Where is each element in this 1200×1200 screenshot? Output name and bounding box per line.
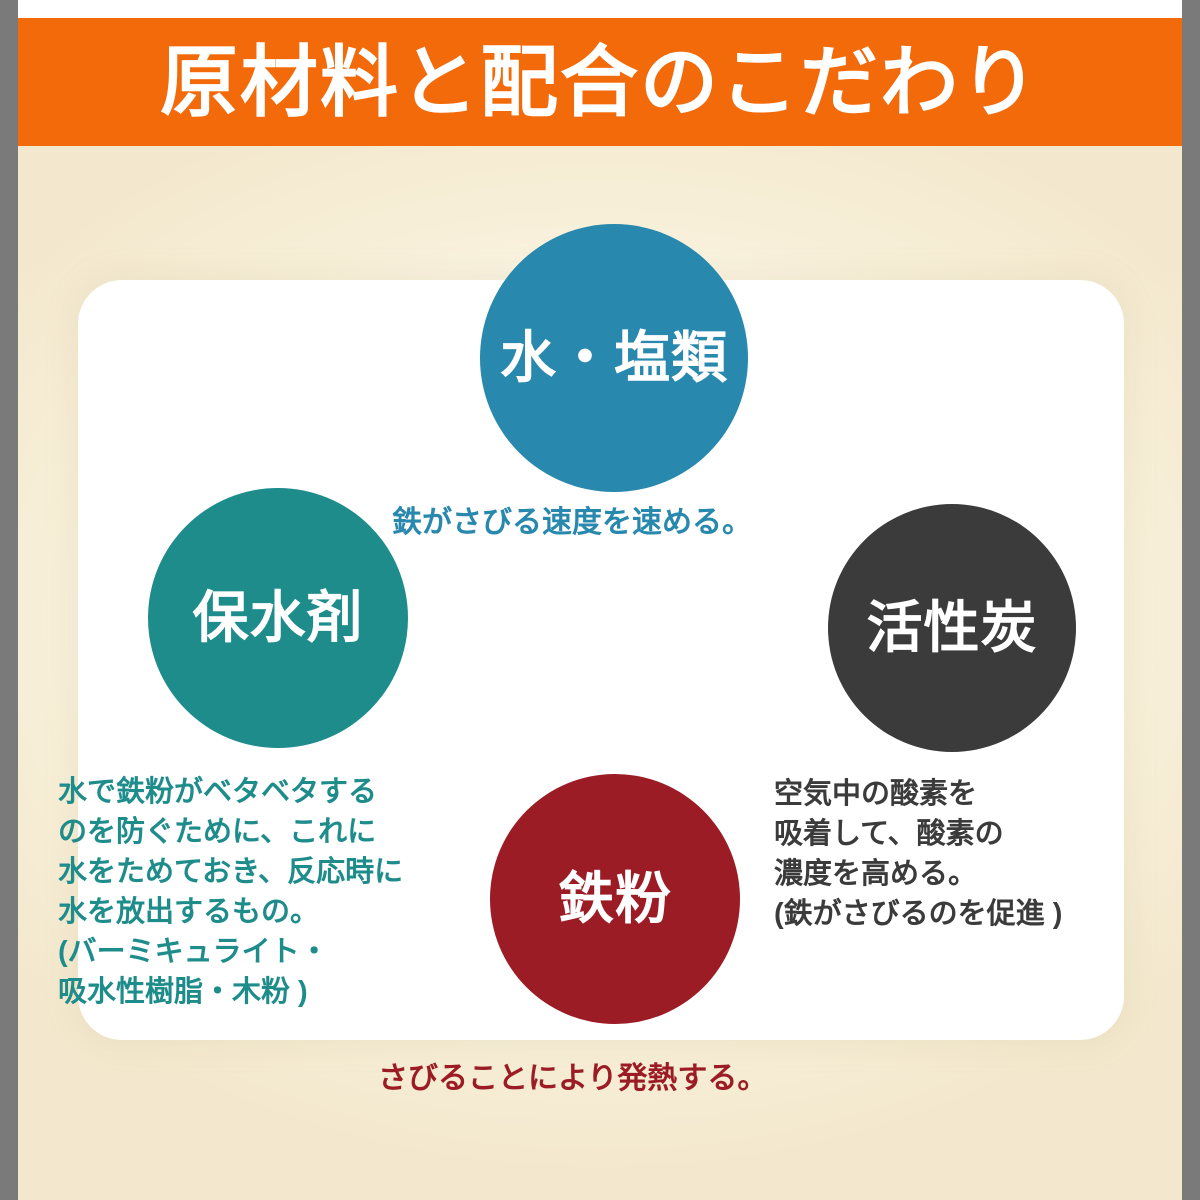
- node-water-salts-caption: 鉄がさびる速度を速める。: [392, 502, 852, 543]
- node-iron-powder: 鉄粉: [490, 774, 740, 1024]
- node-activated-carbon-label: 活性炭: [867, 600, 1038, 656]
- node-water-salts: 水・塩類: [480, 224, 748, 492]
- diagram-body: 水・塩類 鉄がさびる速度を速める。 保水剤 水で鉄粉がベタベタする のを防ぐため…: [18, 146, 1182, 1200]
- title-bar: 原材料と配合のこだわり: [18, 18, 1182, 146]
- page-title: 原材料と配合のこだわり: [160, 43, 1040, 121]
- infographic-page: 原材料と配合のこだわり 水・塩類 鉄がさびる速度を速める。 保水剤 水で鉄粉がベ…: [0, 0, 1200, 1200]
- node-water-salts-label: 水・塩類: [500, 330, 728, 386]
- infographic-inner: 原材料と配合のこだわり 水・塩類 鉄がさびる速度を速める。 保水剤 水で鉄粉がベ…: [18, 0, 1182, 1200]
- frame-left-bar: [0, 0, 18, 1200]
- node-water-retainer-label: 保水剤: [193, 590, 364, 646]
- node-activated-carbon-caption: 空気中の酸素を 吸着して、酸素の 濃度を高める。 (鉄がさびるのを促進 ): [774, 774, 1174, 934]
- node-activated-carbon: 活性炭: [828, 504, 1076, 752]
- node-water-retainer-caption: 水で鉄粉がベタベタする のを防ぐために、これに 水をためておき、反応時に 水を放…: [58, 772, 478, 1012]
- node-iron-powder-label: 鉄粉: [558, 871, 672, 927]
- frame-right-bar: [1182, 0, 1200, 1200]
- node-water-retainer: 保水剤: [148, 488, 408, 748]
- node-iron-powder-caption: さびることにより発熱する。: [378, 1058, 898, 1099]
